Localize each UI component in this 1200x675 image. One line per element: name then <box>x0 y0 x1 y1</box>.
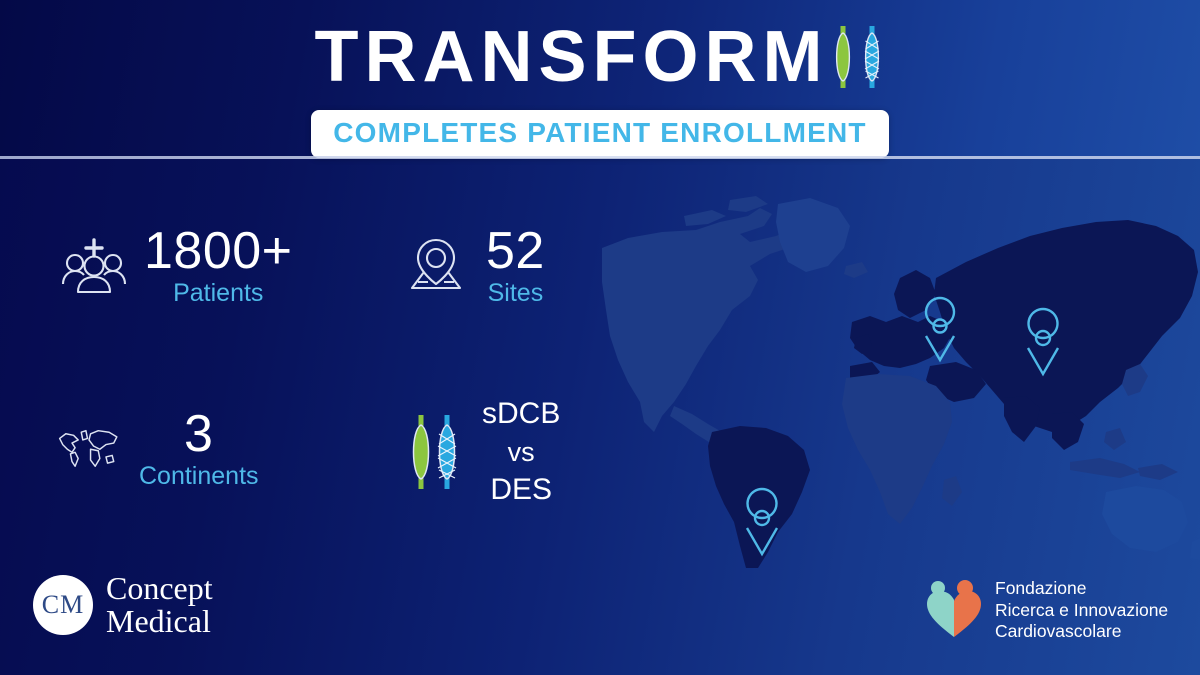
concept-medical-wordmark: Concept Medical <box>106 572 213 638</box>
stats-grid: 1800+ Patients 52 Sites <box>0 170 600 560</box>
stat-continents-text: 3 Continents <box>139 408 259 491</box>
comparison-device-icons <box>402 418 466 486</box>
stat-patients: 1800+ Patients <box>60 225 293 308</box>
concept-medical-mark: CM <box>33 575 93 635</box>
foundation-line2: Ricerca e Innovazione <box>995 600 1168 622</box>
stat-sites-text: 52 Sites <box>486 225 545 308</box>
stat-continents: 3 Continents <box>55 408 259 491</box>
concept-medical-initials: CM <box>42 590 84 620</box>
comparison-arm-b: DES <box>490 471 552 509</box>
concept-medical-line2: Medical <box>106 605 213 638</box>
foundation-line3: Cardiovascolare <box>995 621 1168 643</box>
sdcb-balloon-icon <box>830 24 856 90</box>
infographic-poster: TRANSFORM <box>0 0 1200 675</box>
header-divider <box>0 156 1200 159</box>
map-pin-icon <box>402 233 470 301</box>
world-map-icon <box>55 416 123 484</box>
header-banner: TRANSFORM <box>0 0 1200 158</box>
page-title: TRANSFORM <box>315 22 829 92</box>
stat-sites-value: 52 <box>486 225 545 277</box>
map-landmasses <box>602 196 1200 568</box>
concept-medical-logo: CM Concept Medical <box>33 572 213 638</box>
stat-patients-value: 1800+ <box>144 225 293 277</box>
foundation-wordmark: Fondazione Ricerca e Innovazione Cardiov… <box>995 578 1168 643</box>
sdcb-des-devices-icon <box>404 413 464 491</box>
concept-medical-line1: Concept <box>106 572 213 605</box>
subtitle-badge-text: COMPLETES PATIENT ENROLLMENT <box>333 117 866 149</box>
stat-patients-text: 1800+ Patients <box>144 225 293 308</box>
comparison-separator: vs <box>508 433 535 471</box>
subtitle-badge-wrap: COMPLETES PATIENT ENROLLMENT <box>0 110 1200 158</box>
foundation-logo: Fondazione Ricerca e Innovazione Cardiov… <box>925 578 1168 643</box>
comparison-text: sDCB vs DES <box>482 395 560 509</box>
subtitle-badge: COMPLETES PATIENT ENROLLMENT <box>311 110 888 158</box>
stat-continents-value: 3 <box>184 408 213 460</box>
title-device-icons <box>830 24 885 90</box>
heart-people-icon <box>925 579 983 641</box>
stat-patients-label: Patients <box>173 278 263 308</box>
des-stent-icon <box>859 24 885 90</box>
world-map <box>600 170 1200 570</box>
stat-sites-label: Sites <box>488 278 544 308</box>
stat-sites: 52 Sites <box>402 225 545 308</box>
stat-continents-label: Continents <box>139 461 259 491</box>
foundation-line1: Fondazione <box>995 578 1168 600</box>
comparison-arm-a: sDCB <box>482 395 560 433</box>
patients-group-icon <box>60 233 128 301</box>
title-row: TRANSFORM <box>0 22 1200 92</box>
stat-comparison: sDCB vs DES <box>402 395 560 509</box>
